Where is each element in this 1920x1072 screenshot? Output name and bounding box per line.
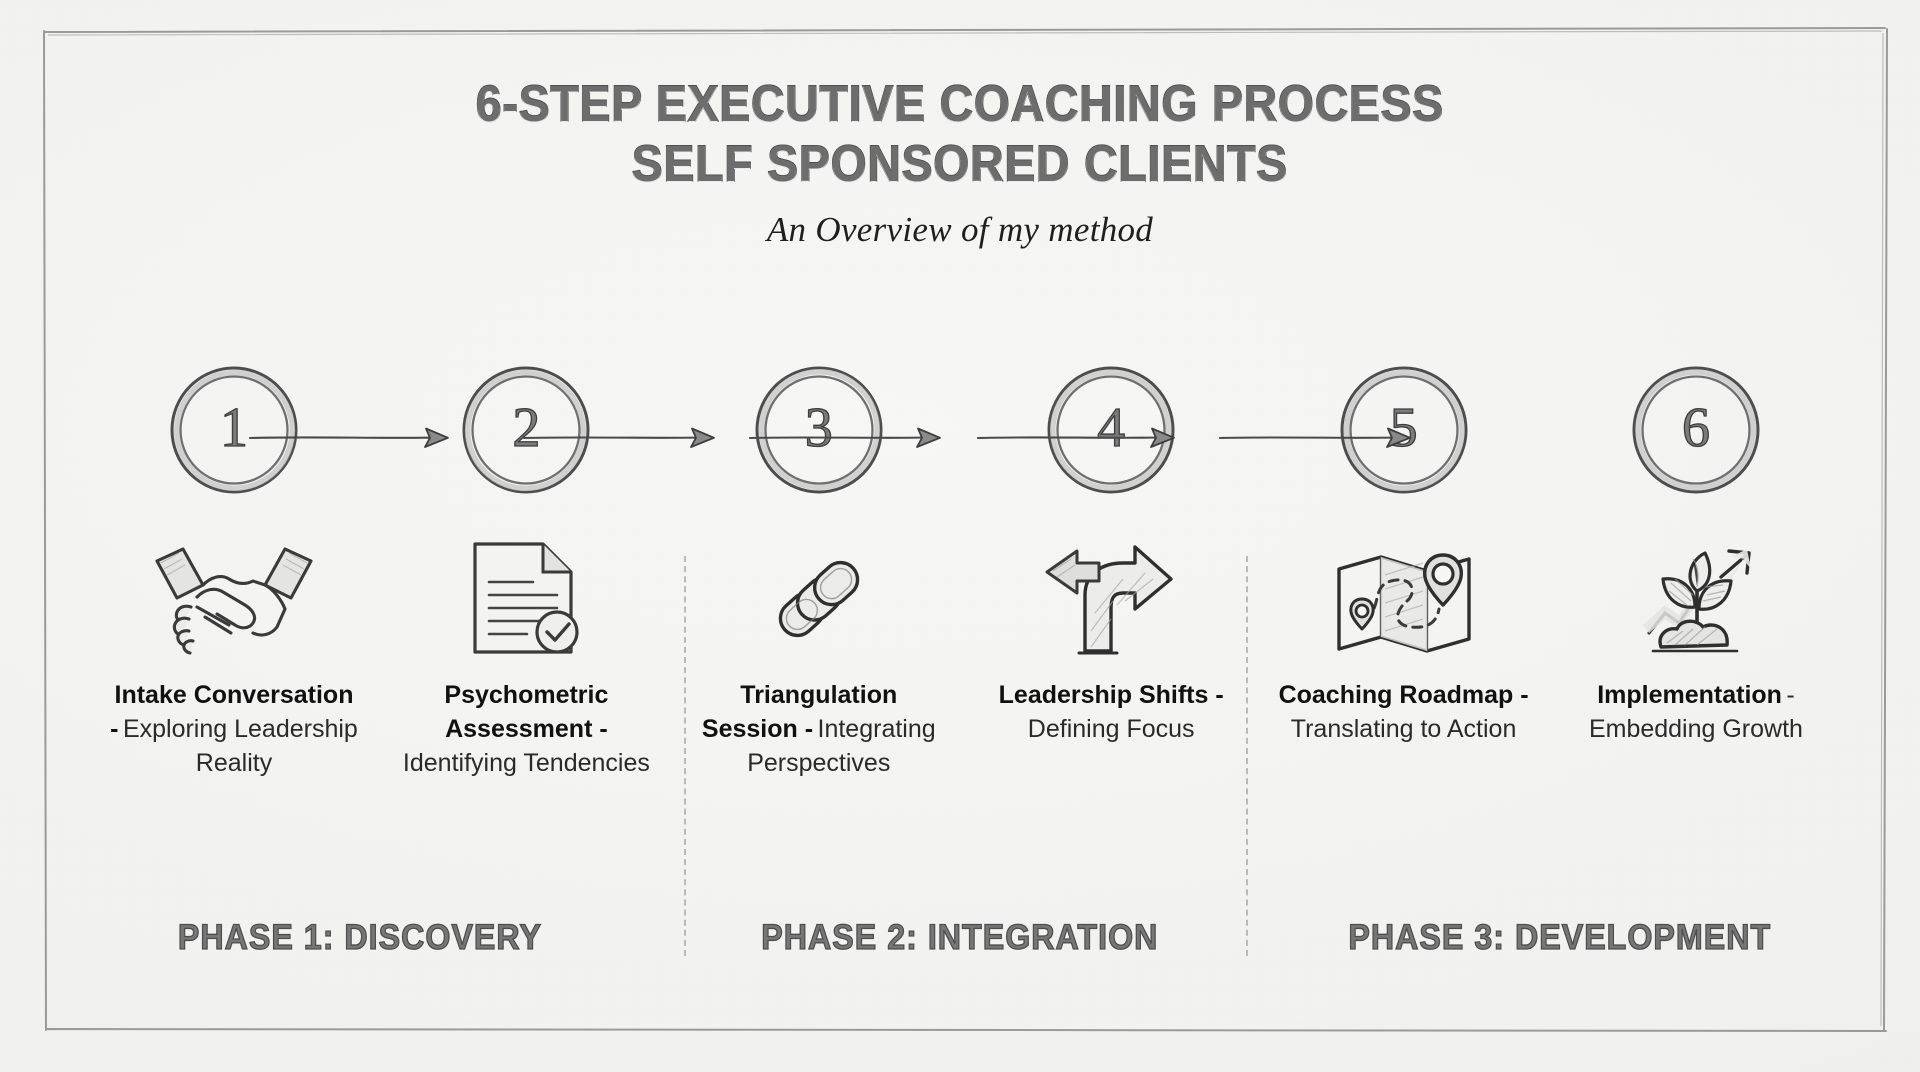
step-title-5: Coaching Roadmap - (1279, 681, 1529, 709)
step-title-4: Leadership Shifts - (999, 681, 1224, 709)
phase-labels-row: PHASE 1: DISCOVERY PHASE 2: INTEGRATION … (60, 918, 1860, 958)
document-check-icon (461, 524, 591, 674)
phase-2: PHASE 2: INTEGRATION (660, 918, 1260, 958)
step-description-2: Identifying Tendencies (403, 749, 650, 777)
step-description-4: Defining Focus (1028, 715, 1195, 743)
connector-arrow-3-4 (748, 423, 948, 453)
process-step-4[interactable]: 4 Leadership Shifts - Defining Focus (987, 360, 1235, 748)
title-block: 6-STEP EXECUTIVE COACHING PROCESS SELF S… (0, 74, 1920, 250)
step-caption-3: Triangulation Session - Integrating Pers… (694, 680, 944, 782)
handshake-icon (145, 524, 323, 674)
phase-divider-2-3 (1246, 556, 1248, 956)
step-caption-6: Implementation - Embedding Growth (1571, 680, 1821, 748)
page-title-line-1: 6-STEP EXECUTIVE COACHING PROCESS (96, 74, 1824, 134)
process-step-5[interactable]: 5 Coaching R (1280, 360, 1528, 748)
step-caption-4: Leadership Shifts - Defining Focus (986, 680, 1236, 748)
chain-link-icon (749, 524, 889, 674)
process-step-6[interactable]: 6 (1572, 360, 1820, 748)
connector-arrow-4-5 (976, 423, 1182, 453)
map-route-icon (1331, 524, 1477, 674)
step-description-5: Translating to Action (1291, 715, 1517, 743)
step-number-badge-6: 6 (1626, 360, 1766, 500)
step-caption-2: Psychometric Assessment - Identifying Te… (401, 680, 651, 782)
diverging-arrows-icon (1041, 524, 1181, 674)
phase-1: PHASE 1: DISCOVERY (60, 918, 660, 958)
page-title-line-2: SELF SPONSORED CLIENTS (96, 134, 1824, 194)
connector-arrow-1-2 (248, 423, 458, 453)
step-title-6: Implementation (1597, 681, 1782, 709)
page-subtitle: An Overview of my method (0, 210, 1920, 250)
step-title-2: Psychometric Assessment - (444, 681, 608, 743)
step-number-label-1: 1 (220, 400, 248, 456)
phase-3-label: PHASE 3: DEVELOPMENT (1349, 918, 1772, 958)
growth-plant-icon (1621, 524, 1771, 674)
step-caption-1: Intake Conversation - Exploring Leadersh… (109, 680, 359, 782)
phase-divider-1-2 (684, 556, 686, 956)
connector-arrow-2-3 (522, 423, 722, 453)
step-number-label-6: 6 (1682, 400, 1710, 456)
step-description-1: Exploring Leadership Reality (123, 715, 358, 777)
connector-arrow-5-6 (1218, 423, 1418, 453)
step-caption-5: Coaching Roadmap - Translating to Action (1279, 680, 1529, 748)
phase-1-label: PHASE 1: DISCOVERY (178, 918, 542, 958)
phase-3: PHASE 3: DEVELOPMENT (1260, 918, 1860, 958)
phase-2-label: PHASE 2: INTEGRATION (761, 918, 1158, 958)
